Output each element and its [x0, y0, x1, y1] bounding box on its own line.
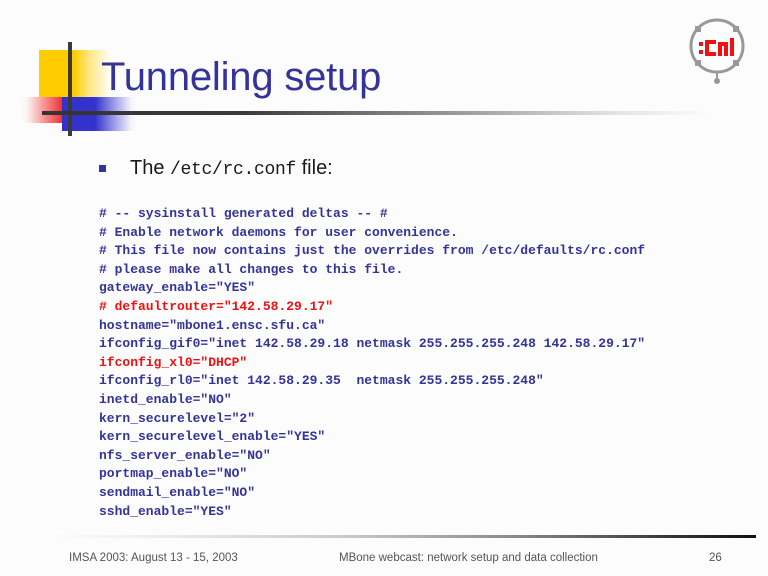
- code-line: # -- sysinstall generated deltas -- #: [99, 205, 719, 224]
- code-line: # please make all changes to this file.: [99, 261, 719, 280]
- bullet-prefix: The: [130, 157, 170, 179]
- bullet-item-label: The /etc/rc.conf file:: [130, 157, 333, 180]
- code-line: # This file now contains just the overri…: [99, 242, 719, 261]
- code-line: nfs_server_enable="NO": [99, 447, 719, 466]
- footer-page-number: 26: [709, 552, 722, 564]
- code-line: hostname="mbone1.ensc.sfu.ca": [99, 317, 719, 336]
- code-line: sshd_enable="YES": [99, 503, 719, 522]
- slide-canvas: Tunneling setup: [0, 0, 768, 576]
- cnl-logo-icon: [681, 14, 753, 88]
- code-line: inetd_enable="NO": [99, 391, 719, 410]
- code-line: kern_securelevel_enable="YES": [99, 428, 719, 447]
- code-line: ifconfig_gif0="inet 142.58.29.18 netmask…: [99, 335, 719, 354]
- bullet-suffix: file:: [296, 157, 333, 179]
- code-line: ifconfig_rl0="inet 142.58.29.35 netmask …: [99, 372, 719, 391]
- title-underline-rule: [42, 111, 712, 115]
- page-title: Tunneling setup: [101, 57, 381, 97]
- footer-conference: IMSA 2003: August 13 - 15, 2003: [69, 552, 238, 564]
- code-line: # defaultrouter="142.58.29.17": [99, 298, 719, 317]
- bullet-file-path: /etc/rc.conf: [170, 160, 296, 180]
- motif-vertical-rule: [68, 42, 72, 136]
- code-block: # -- sysinstall generated deltas -- ## E…: [99, 205, 719, 521]
- code-line: portmap_enable="NO": [99, 465, 719, 484]
- code-line: kern_securelevel="2": [99, 410, 719, 429]
- code-line: # Enable network daemons for user conven…: [99, 224, 719, 243]
- bullet-item: The /etc/rc.conf file:: [99, 157, 333, 180]
- footer-rule: [50, 535, 756, 538]
- footer-talk-title: MBone webcast: network setup and data co…: [339, 552, 598, 564]
- code-line: ifconfig_xl0="DHCP": [99, 354, 719, 373]
- motif-red-fade: [22, 97, 62, 123]
- code-line: sendmail_enable="NO": [99, 484, 719, 503]
- bullet-square-icon: [99, 165, 106, 172]
- code-line: gateway_enable="YES": [99, 279, 719, 298]
